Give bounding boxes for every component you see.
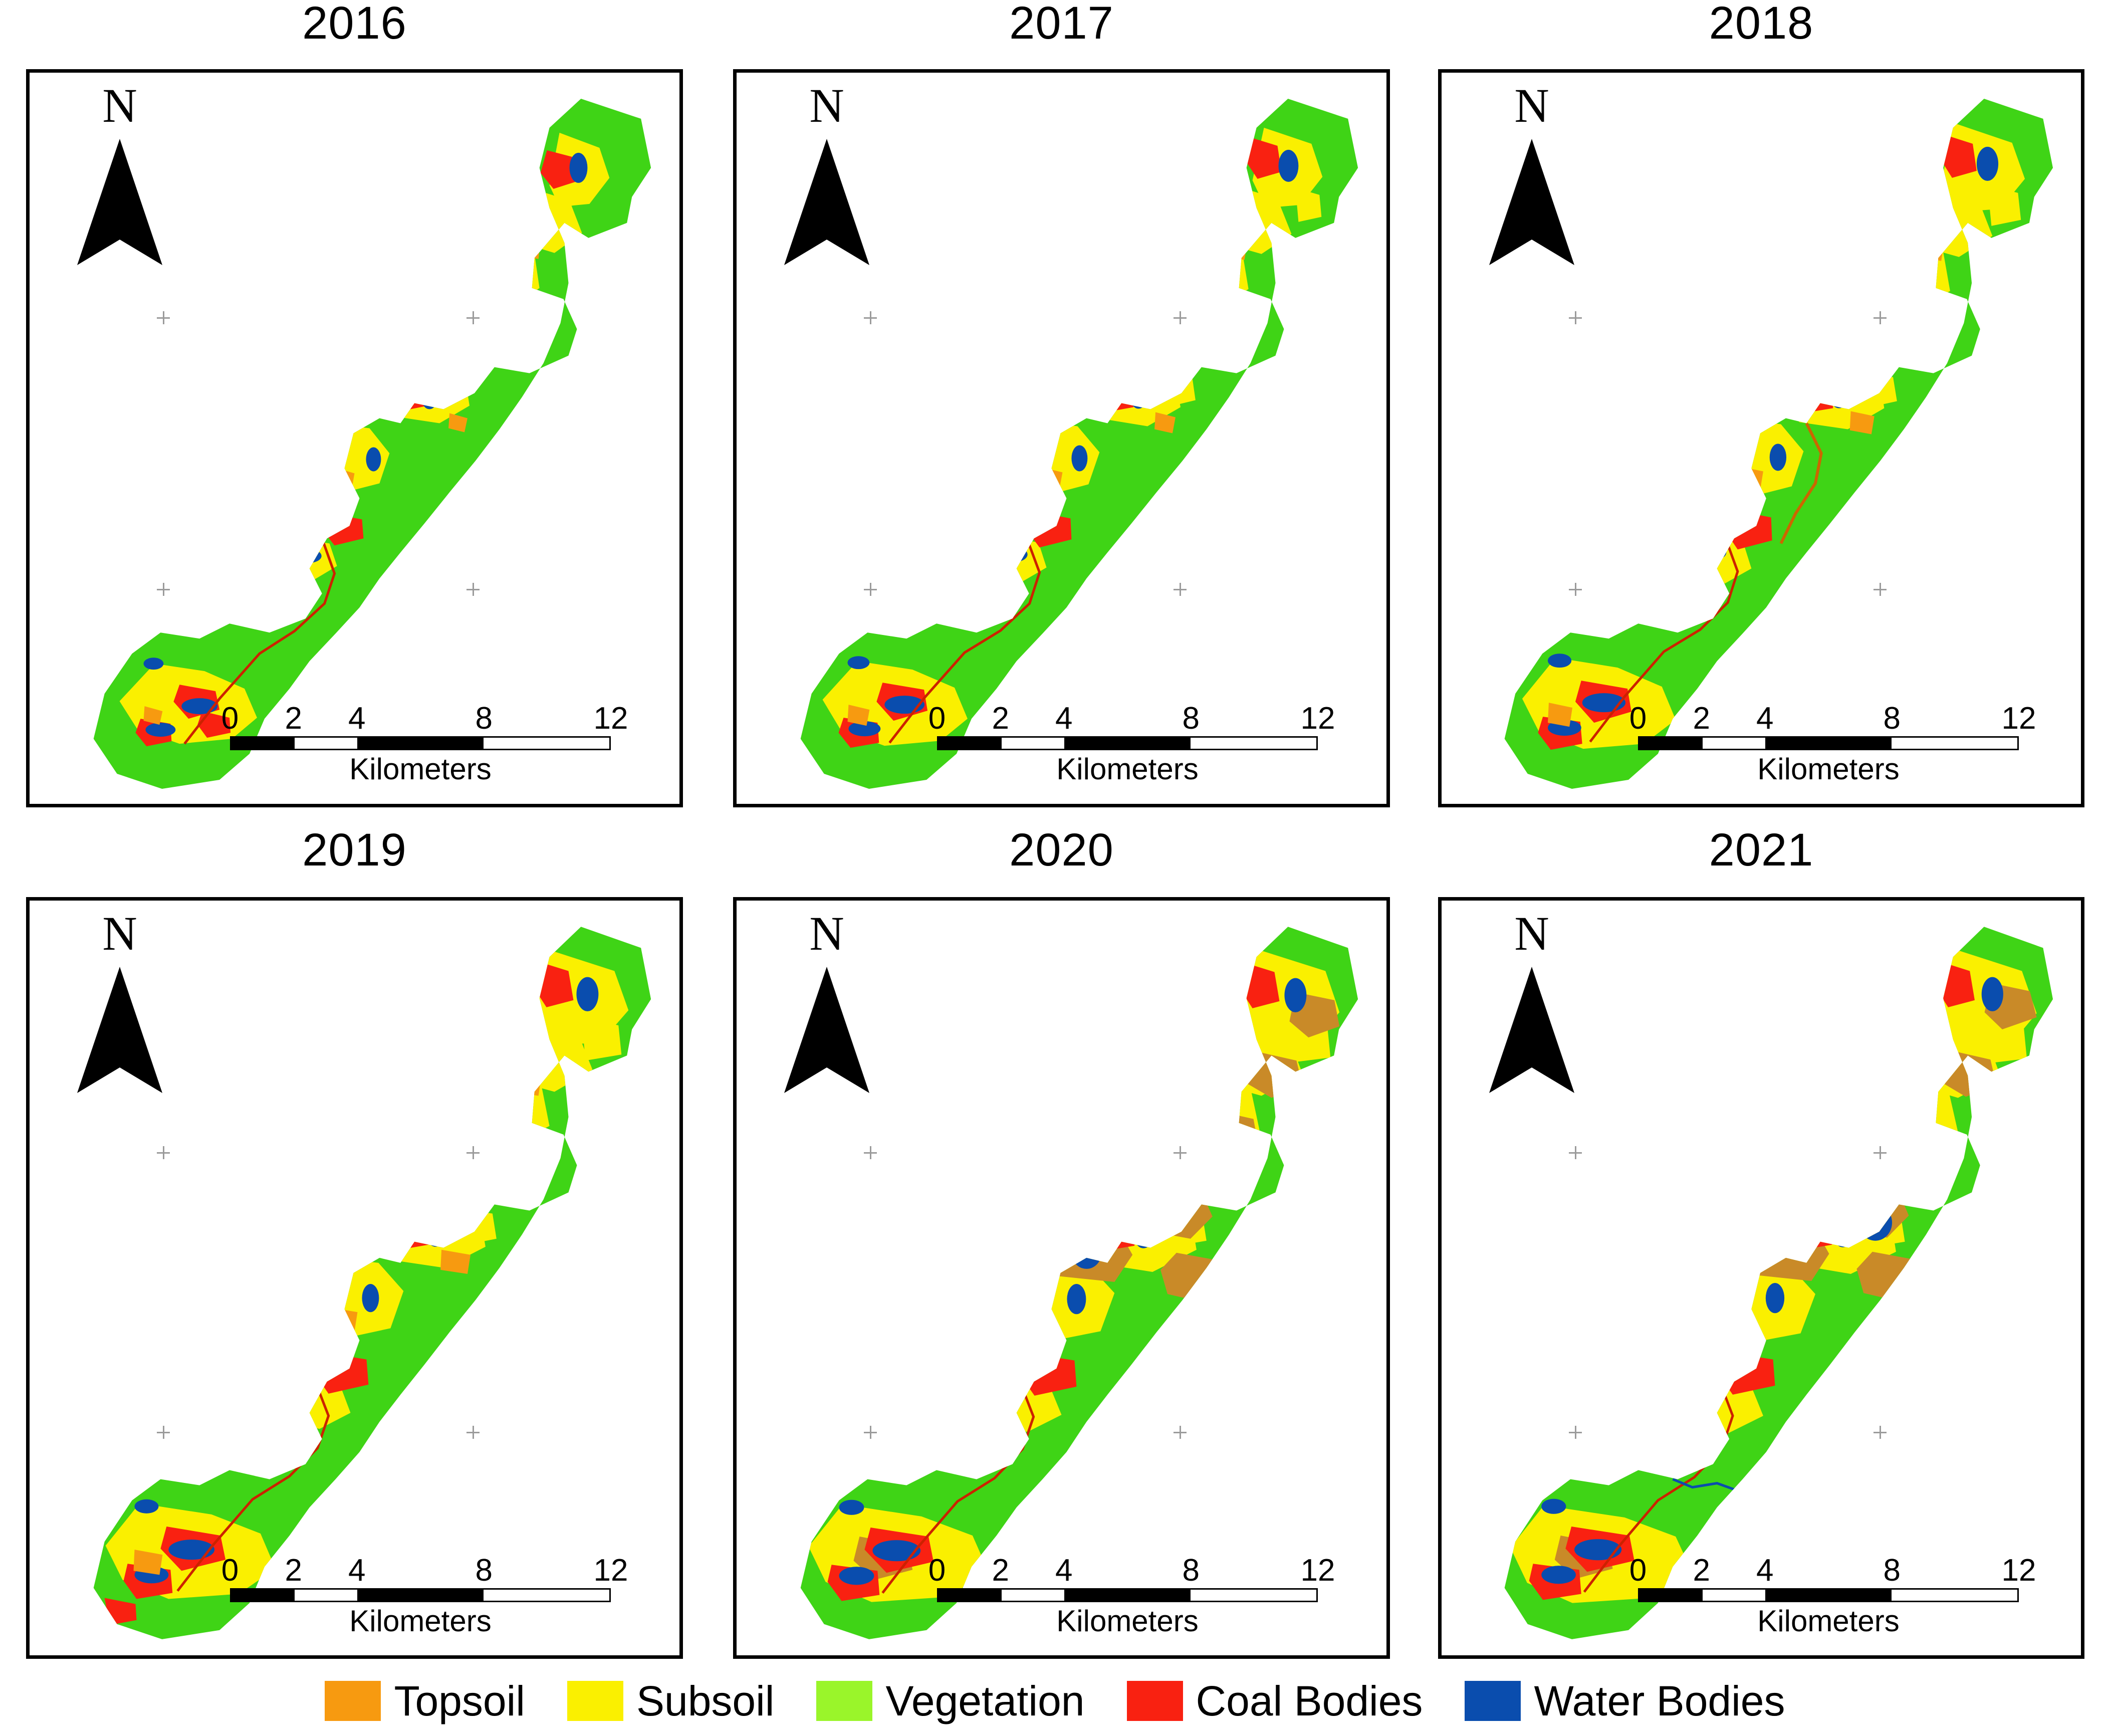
legend-label-coal-bodies: Coal Bodies <box>1196 1680 1423 1722</box>
scale-bar-2019: 0 2 4 8 12 Kilometers <box>230 1551 611 1637</box>
legend-swatch-coal-bodies <box>1127 1681 1183 1721</box>
scale-bar-2021: 0 2 4 8 12 Kilometers <box>1638 1551 2019 1637</box>
scale-bar-graphic <box>1638 1588 2019 1602</box>
map-canvas-2016: N <box>30 73 679 804</box>
graticule-cross <box>1569 1426 1582 1439</box>
legend-swatch-subsoil <box>567 1681 623 1721</box>
landcover-map-2019 <box>30 901 679 1655</box>
scale-tick: 8 <box>1883 1555 1900 1586</box>
graticule-cross <box>157 1146 170 1159</box>
landcover-map-2017 <box>737 73 1386 804</box>
map-panel-2021[interactable]: N <box>1438 897 2084 1659</box>
scale-bar-2018: 0 2 4 8 12 Kilometers <box>1638 699 2019 785</box>
landcover-map-2020 <box>737 901 1386 1655</box>
scale-tick: 0 <box>1629 1555 1647 1586</box>
scale-tick: 4 <box>1756 703 1773 734</box>
map-canvas-2021: N <box>1442 901 2081 1655</box>
legend-item-vegetation[interactable]: Vegetation <box>816 1680 1126 1722</box>
scale-tick: 0 <box>928 1555 946 1586</box>
scale-bar-graphic <box>1638 736 2019 750</box>
legend-label-water-bodies: Water Bodies <box>1534 1680 1785 1722</box>
scale-bar-2017: 0 2 4 8 12 Kilometers <box>937 699 1318 785</box>
scale-tick: 0 <box>221 1555 239 1586</box>
legend-label-vegetation: Vegetation <box>885 1680 1084 1722</box>
scale-tick: 2 <box>285 1555 302 1586</box>
graticule-cross <box>864 1426 877 1439</box>
panel-title-2017: 2017 <box>733 0 1390 46</box>
graticule-cross <box>1873 1426 1887 1439</box>
legend-item-coal-bodies[interactable]: Coal Bodies <box>1127 1680 1465 1722</box>
scale-tick: 12 <box>2002 1555 2036 1586</box>
legend-label-topsoil: Topsoil <box>394 1680 525 1722</box>
scale-unit-label: Kilometers <box>1638 753 2019 785</box>
scale-tick: 8 <box>1883 703 1900 734</box>
panel-title-2021: 2021 <box>1438 827 2084 873</box>
map-canvas-2020: N <box>737 901 1386 1655</box>
map-canvas-2019: N <box>30 901 679 1655</box>
legend-swatch-vegetation <box>816 1681 872 1721</box>
legend-label-subsoil: Subsoil <box>636 1680 775 1722</box>
graticule-cross <box>1569 583 1582 596</box>
panel-title-2016: 2016 <box>26 0 683 46</box>
scale-unit-label: Kilometers <box>937 1605 1318 1637</box>
scale-tick: 8 <box>1182 1555 1199 1586</box>
scale-bar-2016: 0 2 4 8 12 Kilometers <box>230 699 611 785</box>
scale-bar-graphic <box>937 736 1318 750</box>
scale-tick: 4 <box>348 703 365 734</box>
legend-swatch-water-bodies <box>1465 1681 1521 1721</box>
scale-tick: 12 <box>1301 1555 1335 1586</box>
graticule-cross <box>1174 1426 1187 1439</box>
scale-tick: 12 <box>594 1555 628 1586</box>
scale-tick: 0 <box>1629 703 1647 734</box>
scale-tick: 0 <box>928 703 946 734</box>
scale-tick: 4 <box>1055 703 1072 734</box>
map-legend: Topsoil Subsoil Vegetation Coal Bodies W… <box>0 1680 2110 1722</box>
graticule-cross <box>157 1426 170 1439</box>
graticule-cross <box>864 583 877 596</box>
graticule-cross <box>157 311 170 324</box>
panel-title-2019: 2019 <box>26 827 683 873</box>
scale-tick: 2 <box>285 703 302 734</box>
legend-item-water-bodies[interactable]: Water Bodies <box>1465 1680 1785 1722</box>
graticule-cross <box>864 311 877 324</box>
graticule-cross <box>466 1426 480 1439</box>
panel-title-2020: 2020 <box>733 827 1390 873</box>
landcover-map-2016 <box>30 73 679 804</box>
scale-unit-label: Kilometers <box>230 753 611 785</box>
scale-tick: 8 <box>475 703 492 734</box>
scale-tick: 2 <box>992 703 1009 734</box>
scale-unit-label: Kilometers <box>1638 1605 2019 1637</box>
legend-item-subsoil[interactable]: Subsoil <box>567 1680 817 1722</box>
scale-bar-graphic <box>230 1588 611 1602</box>
graticule-cross <box>1873 583 1887 596</box>
map-panel-2020[interactable]: N <box>733 897 1390 1659</box>
graticule-cross <box>1174 311 1187 324</box>
scale-bar-2020: 0 2 4 8 12 Kilometers <box>937 1551 1318 1637</box>
map-panel-2016[interactable]: N <box>26 69 683 807</box>
graticule-cross <box>1873 311 1887 324</box>
scale-tick: 4 <box>348 1555 365 1586</box>
landcover-map-2018 <box>1442 73 2081 804</box>
map-panel-2018[interactable]: N <box>1438 69 2084 807</box>
graticule-cross <box>1873 1146 1887 1159</box>
scale-tick: 4 <box>1756 1555 1773 1586</box>
scale-tick: 12 <box>594 703 628 734</box>
graticule-cross <box>1569 311 1582 324</box>
graticule-cross <box>157 583 170 596</box>
scale-unit-label: Kilometers <box>230 1605 611 1637</box>
scale-tick: 2 <box>1693 1555 1710 1586</box>
map-canvas-2017: N <box>737 73 1386 804</box>
figure-root: 2016 N <box>0 0 2110 1736</box>
scale-tick: 4 <box>1055 1555 1072 1586</box>
scale-tick: 12 <box>2002 703 2036 734</box>
scale-tick: 12 <box>1301 703 1335 734</box>
scale-tick: 2 <box>1693 703 1710 734</box>
panel-title-2018: 2018 <box>1438 0 2084 46</box>
scale-bar-graphic <box>937 1588 1318 1602</box>
graticule-cross <box>864 1146 877 1159</box>
map-panel-2019[interactable]: N <box>26 897 683 1659</box>
scale-bar-graphic <box>230 736 611 750</box>
scale-unit-label: Kilometers <box>937 753 1318 785</box>
graticule-cross <box>1174 1146 1187 1159</box>
landcover-map-2021 <box>1442 901 2081 1655</box>
legend-item-topsoil[interactable]: Topsoil <box>325 1680 567 1722</box>
scale-tick: 0 <box>221 703 239 734</box>
graticule-cross <box>466 583 480 596</box>
graticule-cross <box>466 1146 480 1159</box>
graticule-cross <box>466 311 480 324</box>
map-canvas-2018: N <box>1442 73 2081 804</box>
scale-tick: 8 <box>475 1555 492 1586</box>
graticule-cross <box>1569 1146 1582 1159</box>
scale-tick: 8 <box>1182 703 1199 734</box>
map-panel-2017[interactable]: N <box>733 69 1390 807</box>
scale-tick: 2 <box>992 1555 1009 1586</box>
graticule-cross <box>1174 583 1187 596</box>
legend-swatch-topsoil <box>325 1681 381 1721</box>
